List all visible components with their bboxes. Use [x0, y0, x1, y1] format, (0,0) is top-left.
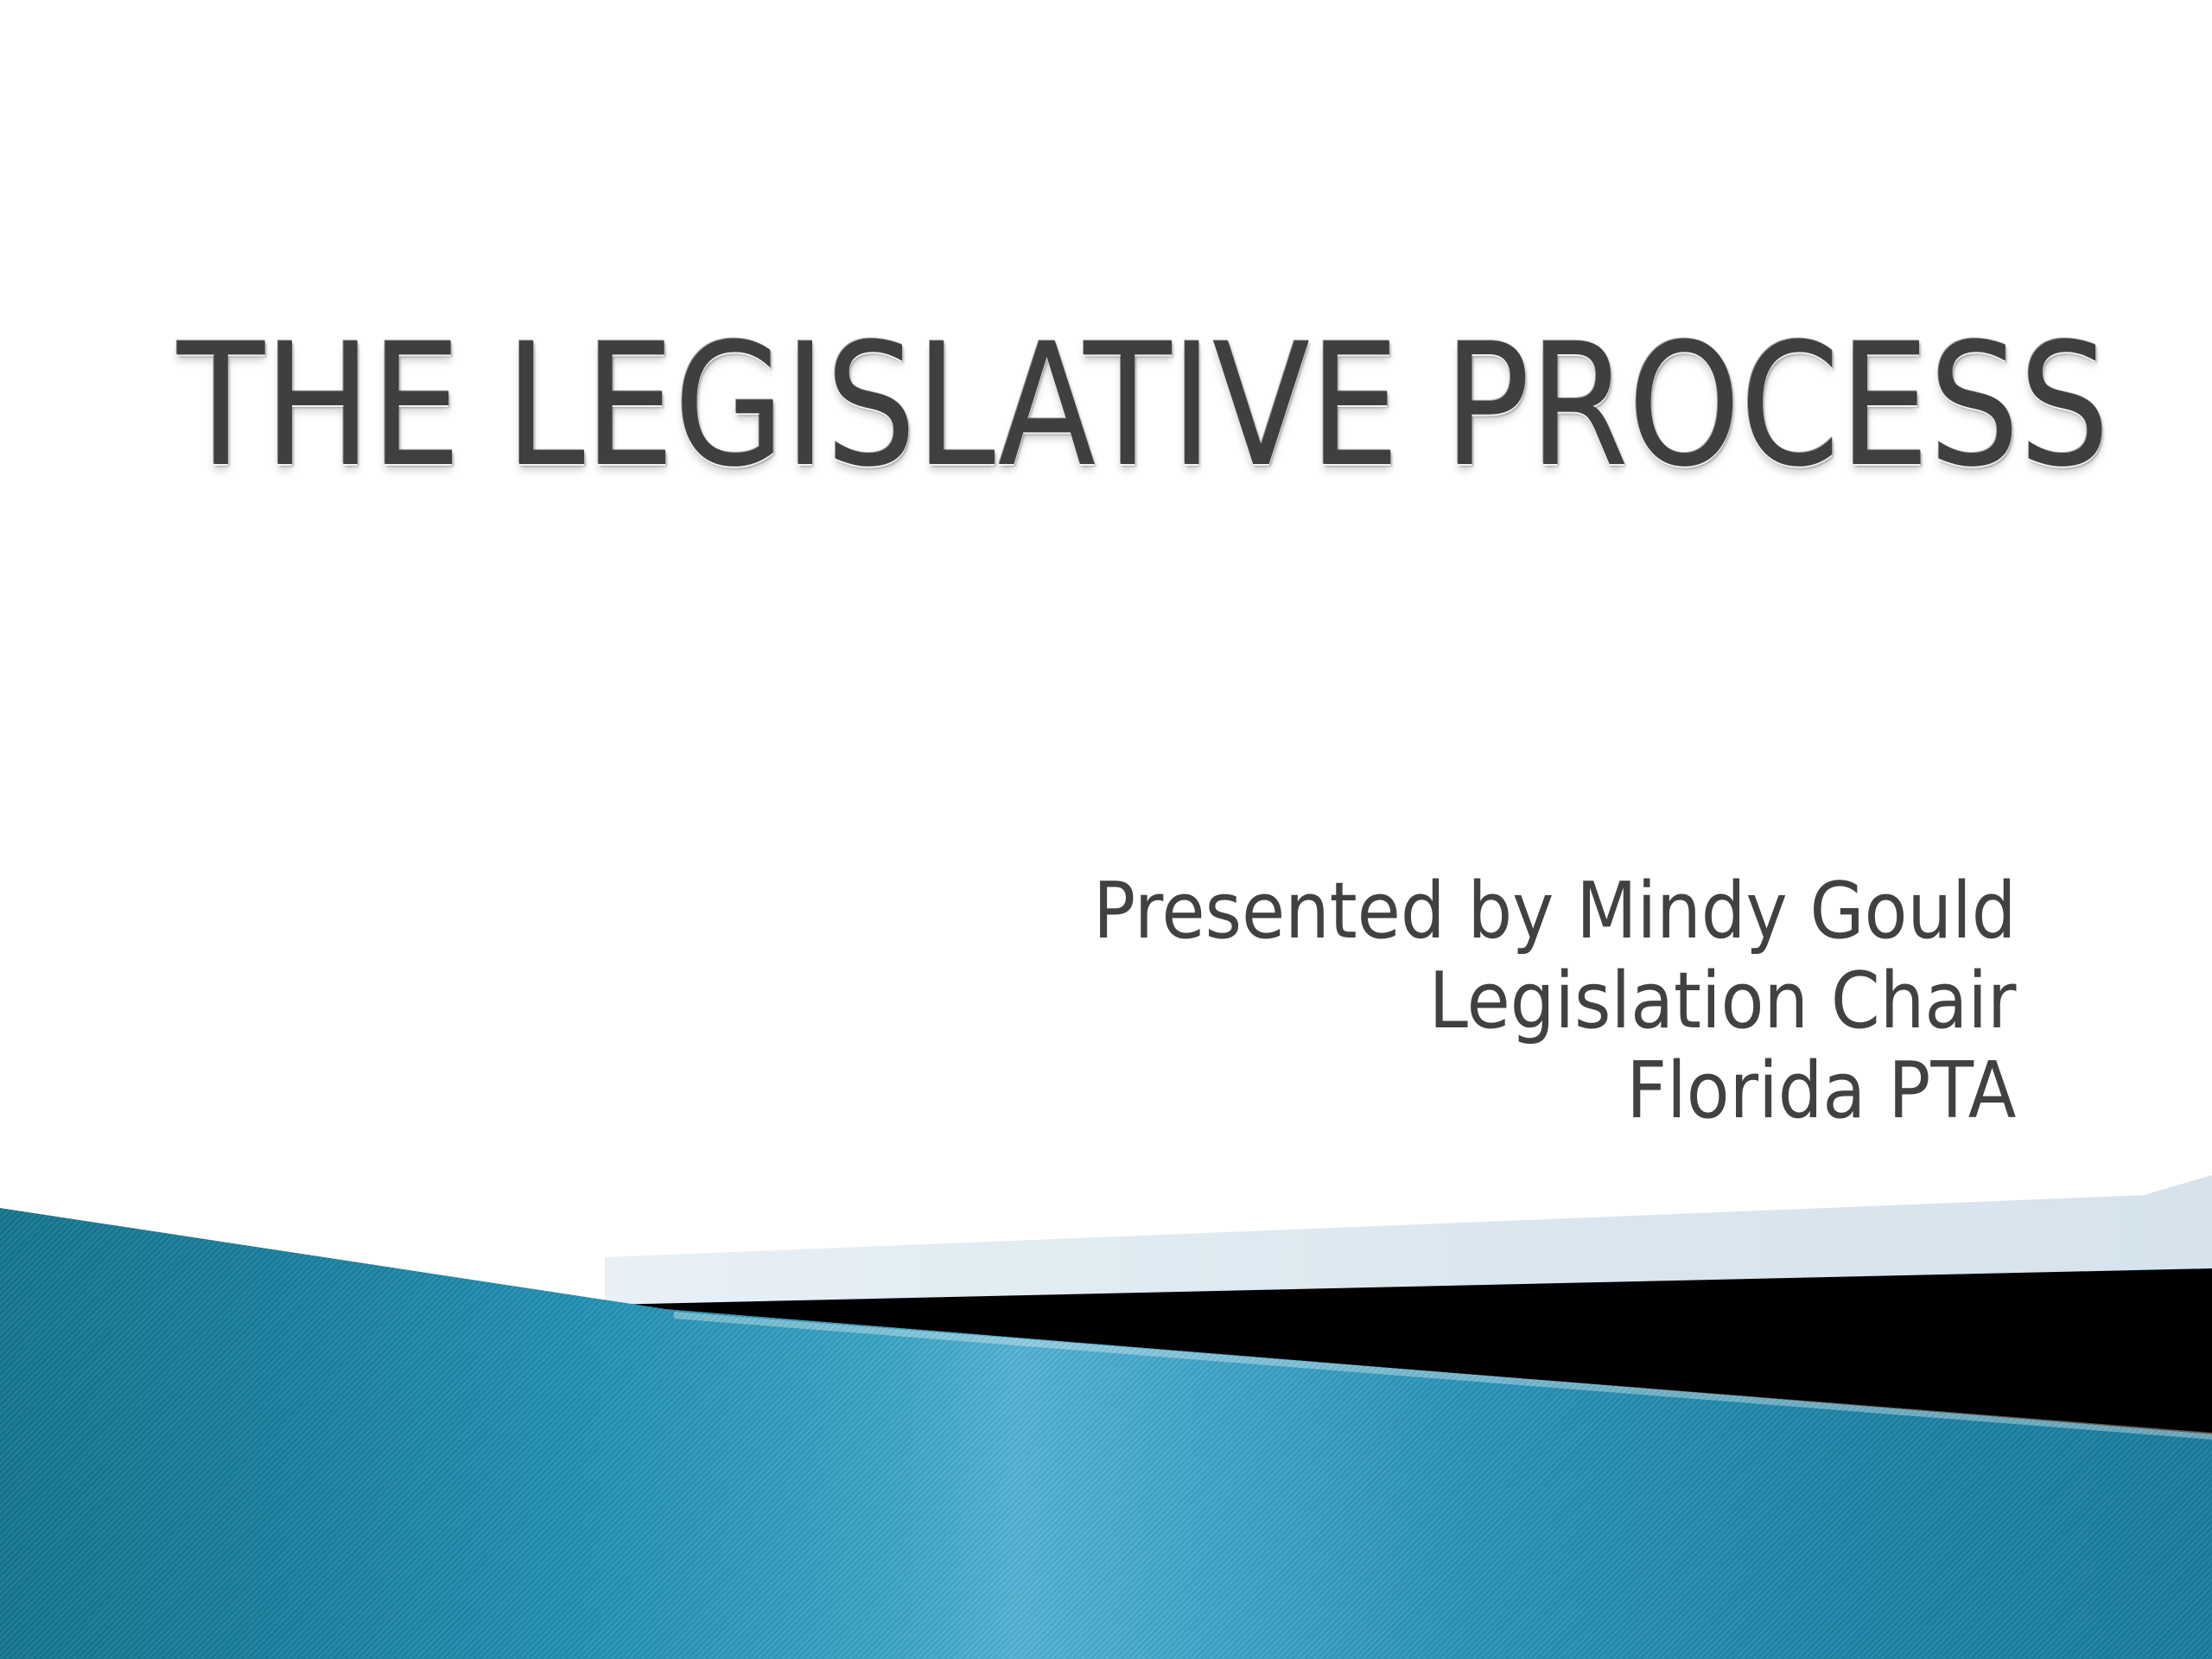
subtitle-line-presenter: Presented by Mindy Gould [1093, 867, 2016, 957]
page-title: THE LEGISLATIVE PROCESS [177, 321, 2109, 491]
title-block: THE LEGISLATIVE PROCESS [0, 321, 2212, 491]
banner-shapes [0, 1175, 2212, 1659]
subtitle-block: Presented by Mindy Gould Legislation Cha… [996, 867, 2016, 1136]
bottom-banner-decoration [0, 1175, 2212, 1659]
presentation-slide: THE LEGISLATIVE PROCESS Presented by Min… [0, 0, 2212, 1659]
subtitle-line-organization: Florida PTA [1093, 1046, 2016, 1136]
subtitle-line-role: Legislation Chair [1093, 957, 2016, 1046]
